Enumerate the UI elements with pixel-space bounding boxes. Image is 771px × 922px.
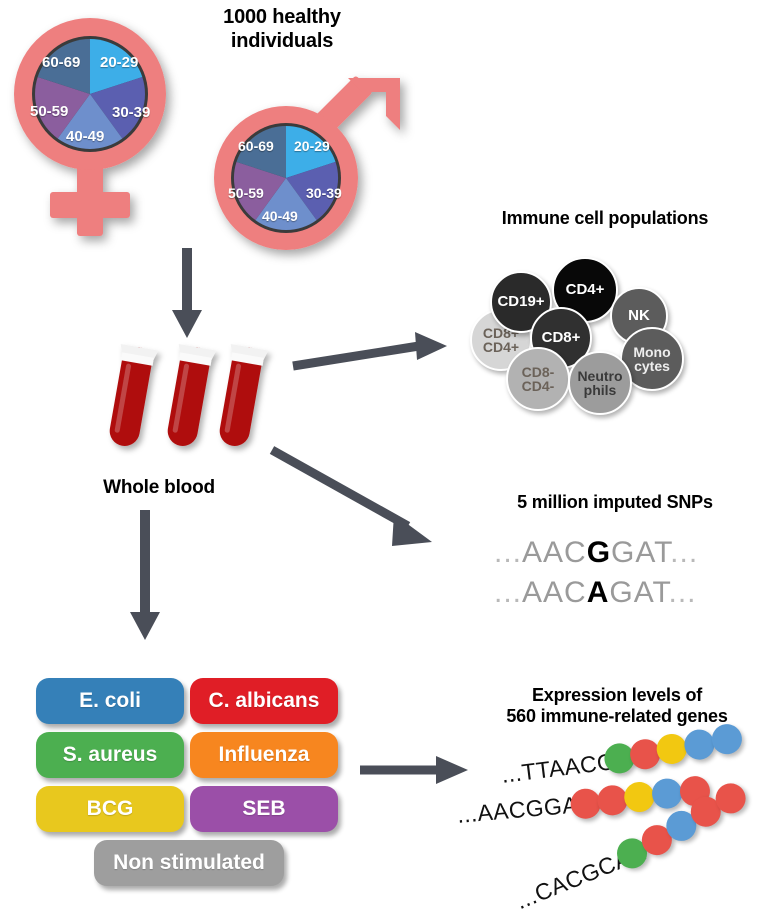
immune-cell-label-2: phils: [584, 383, 617, 397]
stimulation-pill-seb[interactable]: SEB: [190, 786, 338, 832]
stimulation-label: BCG: [87, 797, 134, 821]
stimulation-label: SEB: [242, 797, 285, 821]
figure-canvas: 1000 healthy individuals: [0, 0, 771, 922]
snp-suffix: ...: [670, 536, 698, 569]
arrow-blood-to-snps: [272, 450, 447, 555]
expression-heading: Expression levels of 560 immune-related …: [463, 685, 771, 727]
snp-lead: AAC: [522, 576, 587, 609]
expression-heading-line1: Expression levels of: [463, 685, 771, 706]
cohort-heading: 1000 healthy individuals: [182, 6, 382, 53]
stimulation-pill-influenza[interactable]: Influenza: [190, 732, 338, 778]
immune-heading: Immune cell populations: [455, 208, 755, 229]
snp-variant: A: [587, 576, 610, 609]
stimulation-pill-c-albicans[interactable]: C. albicans: [190, 678, 338, 724]
stimulation-pill-s-aureus[interactable]: S. aureus: [36, 732, 184, 778]
stimulation-pill-bcg[interactable]: BCG: [36, 786, 184, 832]
immune-cell-label: NK: [628, 308, 650, 323]
snp-lead: AAC: [522, 536, 587, 569]
snp-prefix: ...: [494, 576, 522, 609]
immune-cell-label-2: CD4+: [483, 340, 519, 354]
immune-cell-label: Mono: [633, 345, 670, 359]
immune-cell-label-2: cytes: [634, 359, 670, 373]
immune-cell-label: CD8-: [522, 365, 555, 379]
dna-bead: [651, 777, 684, 810]
arrow-cohort-to-blood: [170, 248, 204, 340]
cohort-heading-line1: 1000 healthy: [182, 6, 382, 30]
immune-cell-neutrophils: Neutro phils: [568, 351, 632, 415]
stimulation-panel: E. coli C. albicans S. aureus Influenza …: [36, 678, 336, 893]
stimulation-label: S. aureus: [63, 743, 158, 767]
arrow-blood-to-stimulation: [128, 510, 162, 642]
snp-variant: G: [587, 536, 611, 569]
stimulation-label: Influenza: [218, 743, 309, 767]
immune-cell-label: CD8+: [542, 330, 581, 345]
immune-cell-label: CD4+: [566, 282, 605, 297]
snps-heading: 5 million imputed SNPs: [470, 492, 760, 513]
dna-bead: [710, 722, 743, 755]
female-symbol: 20-29 30-39 40-49 50-59 60-69: [4, 14, 194, 244]
female-age-pie: [35, 39, 145, 149]
stimulation-label: E. coli: [79, 689, 141, 713]
stimulation-pill-non-stimulated[interactable]: Non stimulated: [94, 840, 284, 886]
snp-sequence-row-2: ...AACAGAT...: [494, 576, 697, 610]
male-symbol: 20-29 30-39 40-49 50-59 60-69: [200, 72, 430, 262]
stimulation-label: Non stimulated: [113, 851, 265, 875]
snp-tail: GAT: [609, 576, 668, 609]
immune-cell-label-2: CD4-: [522, 379, 555, 393]
dna-bead: [655, 732, 688, 765]
immune-cell-cd8cd4-dn: CD8- CD4-: [506, 347, 570, 411]
whole-blood-label: Whole blood: [84, 477, 234, 499]
immune-cell-cluster: CD8+ CD4+ CD19+ CD4+ NK CD8+ Mono cytes …: [470, 245, 750, 420]
male-age-pie: [234, 126, 338, 230]
dna-bead: [623, 781, 656, 814]
stimulation-pill-e-coli[interactable]: E. coli: [36, 678, 184, 724]
blood-tubes: [98, 340, 278, 460]
snp-sequence-row-1: ...AACGGAT...: [494, 536, 698, 570]
cohort-heading-line2: individuals: [182, 30, 382, 54]
snp-tail: GAT: [611, 536, 670, 569]
stimulation-label: C. albicans: [209, 689, 320, 713]
expression-strands: ...TTAACGG ...AACGGAT ...CACGCAA: [440, 740, 771, 920]
dna-bead: [683, 728, 716, 761]
snp-prefix: ...: [494, 536, 522, 569]
snp-suffix: ...: [669, 576, 697, 609]
immune-cell-label: CD19+: [497, 294, 544, 309]
immune-cell-label: Neutro: [577, 369, 622, 383]
arrow-blood-to-immune: [293, 330, 453, 380]
